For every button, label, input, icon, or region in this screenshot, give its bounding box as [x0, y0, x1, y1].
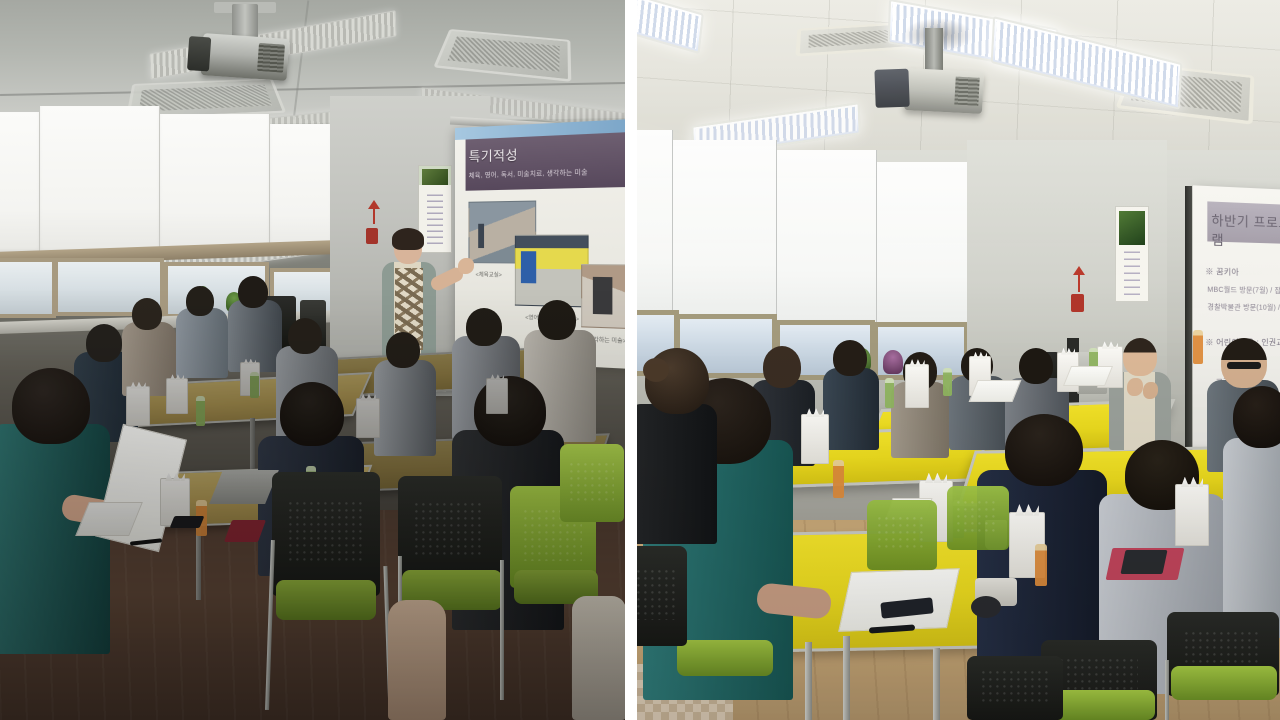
right-projector [904, 68, 984, 114]
right-participant-1-head [763, 346, 801, 388]
photo-collage: 특기적성 체육, 영어, 독서, 미술치료, 생각하는 미술 <체육교실> <영… [0, 0, 1280, 720]
left-participant-4-head [238, 276, 268, 308]
left-paper-bag-5 [486, 378, 508, 414]
right-projector-mount [925, 28, 943, 74]
right-blind-2 [673, 140, 777, 318]
left-participant-1-head [86, 324, 122, 362]
left-paper-bag-2 [166, 378, 188, 414]
left-participant-3-head [186, 286, 214, 316]
left-blind-2 [40, 106, 160, 252]
left-foreground-knees [572, 596, 625, 720]
left-foreground-center-head [280, 382, 344, 446]
left-fire-extinguisher [366, 228, 378, 244]
left-bottle-2 [250, 372, 259, 398]
left-slide-title: 특기적성 [469, 144, 518, 165]
left-participant-6-body [374, 360, 436, 456]
left-slide-photo-2 [514, 234, 588, 308]
right-chair-6-seat [677, 640, 773, 676]
right-bottle-1 [885, 378, 894, 408]
right-slide-bullet-3: 경찰박물관 방문(10월) / 소 [1207, 301, 1280, 312]
right-blind-3 [777, 150, 877, 322]
right-fire-extinguisher [1071, 294, 1084, 312]
right-bottle-2 [943, 368, 952, 396]
right-chair-1-back [867, 500, 937, 570]
left-window-1 [0, 258, 56, 318]
left-blind-3 [160, 114, 270, 254]
right-chair-5-leg [1165, 660, 1169, 720]
left-chair-2-leg-2 [500, 560, 504, 700]
left-foreground-teal-head [12, 368, 90, 444]
left-mobile-phone [170, 516, 205, 528]
right-handout-paper-3 [969, 380, 1022, 402]
right-photo-panel: 하반기 프로그램 ※ 꿈키아 MBC월드 방문(7월) / 잡월드 경찰박물관 … [637, 0, 1280, 720]
left-participant-6-head [386, 332, 420, 368]
right-foreground-navy-head [1005, 414, 1083, 486]
right-participant-5-head [1019, 348, 1053, 384]
right-glasses-icon [1227, 362, 1261, 369]
right-chair-2-back [947, 486, 1009, 550]
left-foreground-right-head [474, 376, 546, 446]
right-participant-2-body [823, 368, 879, 450]
right-table-4-leg-1 [805, 642, 812, 720]
left-person-legs [388, 600, 446, 720]
right-slide-bullet-1: ※ 꿈키아 [1205, 266, 1239, 278]
left-window-blinds [0, 98, 332, 258]
left-participant-7-head [466, 308, 502, 346]
left-chair-4-back [560, 444, 624, 522]
right-speaker-head [1123, 338, 1157, 376]
right-paper-bag-5 [801, 414, 829, 464]
right-slide-bullet-2: MBC월드 방문(7월) / 잡월드 [1207, 285, 1280, 296]
left-paper-bag-4 [356, 398, 380, 438]
right-blind-1 [637, 130, 673, 312]
left-participant-8-head [538, 300, 576, 340]
left-projector [201, 33, 290, 81]
right-fire-sign-post [1078, 272, 1080, 292]
left-foreground-teal-body [0, 424, 110, 654]
right-chair-4-back [967, 656, 1063, 720]
right-speaker-hand-1 [1127, 378, 1143, 396]
left-participant-3-body [176, 308, 228, 378]
right-table-4-leg-2 [933, 648, 940, 720]
left-slide-caption-1: <체육교실> [476, 270, 502, 278]
right-bottle-orange-1 [1035, 544, 1047, 586]
left-blind-4 [270, 124, 332, 254]
right-table-4-leg-3 [843, 636, 850, 720]
right-paper-bag-8 [1175, 484, 1209, 546]
right-foreground-bun-body [637, 404, 717, 544]
right-speaker-hand-2 [1143, 382, 1158, 399]
right-chair-5-seat [1171, 666, 1277, 700]
left-participant-2-head [132, 298, 162, 330]
left-chair-1-back [272, 472, 380, 596]
left-paper-bag-1 [126, 386, 150, 426]
right-slide-title: 하반기 프로그램 [1211, 209, 1280, 250]
left-projector-mount [232, 4, 258, 38]
right-foreground-bun-hairbun [643, 358, 669, 382]
right-bottle-orange-3 [1193, 330, 1203, 364]
right-edge-participant-head [1233, 386, 1280, 448]
left-chair-1-seat [276, 580, 376, 620]
left-participant-5-head [288, 318, 322, 354]
left-slide-photo-3 [581, 264, 625, 330]
left-presenter-hair [392, 228, 424, 250]
right-edge-participant-body [1223, 438, 1280, 638]
left-bottle-1 [196, 396, 205, 426]
left-blind-1 [0, 112, 40, 252]
right-chair-6-back [637, 546, 687, 646]
right-plant-2 [883, 350, 903, 374]
left-photo-panel: 특기적성 체육, 영어, 독서, 미술치료, 생각하는 미술 <체육교실> <영… [0, 0, 625, 720]
right-wall-poster [1115, 206, 1149, 302]
right-bottle-orange-2 [833, 460, 844, 498]
right-participant-2-head [833, 340, 867, 376]
right-paper-bag-1 [905, 364, 929, 408]
right-mobile-phone-1 [1120, 550, 1167, 574]
left-fire-sign-post [373, 206, 375, 224]
right-camera [971, 596, 1001, 618]
right-handout-paper-4 [1063, 366, 1113, 386]
left-presenter-hand [458, 258, 474, 274]
right-blind-4 [877, 162, 969, 324]
